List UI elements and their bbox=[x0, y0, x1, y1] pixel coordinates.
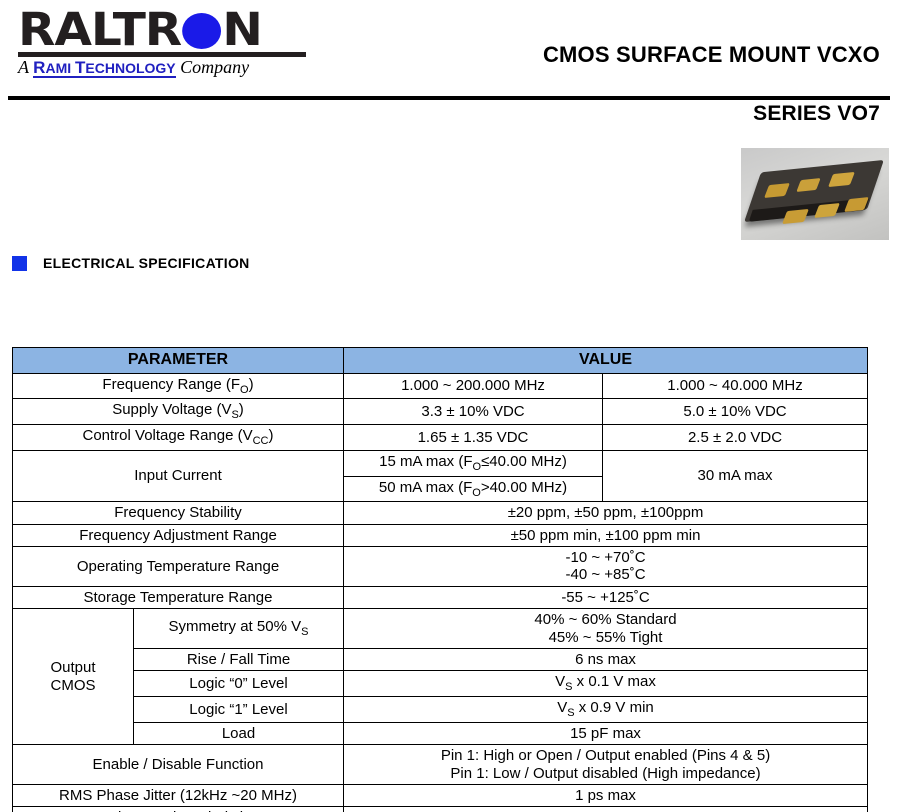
company-tagline: A RAMI TECHNOLOGY Company bbox=[18, 57, 249, 78]
solder-pad bbox=[844, 197, 869, 212]
table-row-rise-fall-time: Rise / Fall Time 6 ns max bbox=[13, 649, 868, 671]
cell-value: -55 ~ +125˚C bbox=[344, 586, 868, 608]
value-tail: ≤40.00 MHz) bbox=[481, 453, 567, 470]
logo-word-after: N bbox=[222, 3, 262, 56]
cell-parameter: Frequency Stability bbox=[13, 502, 344, 524]
value-tail: >40.00 MHz) bbox=[481, 479, 567, 496]
table-row-operating-temperature: Operating Temperature Range -10 ~ +70˚C … bbox=[13, 547, 868, 587]
cell-parameter: Enable / Disable Function bbox=[13, 745, 344, 785]
param-text: Control Voltage Range (V bbox=[83, 427, 253, 444]
param-tail: ) bbox=[269, 427, 274, 444]
cell-parameter: Operating Temperature Range bbox=[13, 547, 344, 587]
tagline-brand-echnology: ECHNOLOGY bbox=[85, 60, 175, 76]
cell-parameter: Load bbox=[134, 722, 344, 744]
param-subscript: CC bbox=[253, 435, 269, 447]
table-row-enable-disable: Enable / Disable Function Pin 1: High or… bbox=[13, 745, 868, 785]
tagline-prefix: A bbox=[18, 57, 33, 77]
cell-parameter: Control Voltage Range (VCC) bbox=[13, 425, 344, 451]
cell-value-right: 1.000 ~ 40.000 MHz bbox=[603, 373, 868, 399]
cell-parameter: RMS Phase Jitter (12kHz ~20 MHz) bbox=[13, 785, 344, 807]
cell-value-right: 5.0 ± 10% VDC bbox=[603, 399, 868, 425]
value-line-2: Pin 1: Low / Output disabled (High imped… bbox=[348, 765, 863, 782]
cell-value: ±20 ppm, ±50 ppm, ±100ppm bbox=[344, 502, 868, 524]
cell-value-left: 15 mA max (FO≤40.00 MHz) bbox=[344, 450, 603, 476]
logo-wordmark: RALTRN bbox=[18, 8, 308, 56]
cell-parameter: Frequency Range (FO) bbox=[13, 373, 344, 399]
tagline-brand: RAMI TECHNOLOGY bbox=[33, 60, 175, 78]
cell-parameter: Logic “1” Level bbox=[134, 697, 344, 723]
group-line-2: CMOS bbox=[17, 677, 129, 694]
cell-parameter: Rise / Fall Time bbox=[134, 649, 344, 671]
cell-value-right: 2.5 ± 2.0 VDC bbox=[603, 425, 868, 451]
tagline-suffix: Company bbox=[176, 57, 250, 77]
value-subscript: S bbox=[565, 681, 572, 693]
cell-parameter: Frequency Adjustment Range bbox=[13, 524, 344, 546]
table-row-input-current-a: Input Current 15 mA max (FO≤40.00 MHz) 3… bbox=[13, 450, 868, 476]
cell-value: 1 ps max bbox=[344, 785, 868, 807]
value-line-1: Pin 1: High or Open / Output enabled (Pi… bbox=[348, 747, 863, 764]
page-title: CMOS SURFACE MOUNT VCXO bbox=[543, 42, 880, 68]
param-tail: ) bbox=[249, 376, 254, 393]
blue-square-bullet-icon bbox=[12, 256, 27, 271]
cell-parameter: Supply Voltage (VS) bbox=[13, 399, 344, 425]
cell-value-left: 1.000 ~ 200.000 MHz bbox=[344, 373, 603, 399]
table-row: Frequency Stability ±20 ppm, ±50 ppm, ±1… bbox=[13, 502, 868, 524]
cell-parameter: Logic “0” Level bbox=[134, 671, 344, 697]
value-tail: x 0.9 V min bbox=[575, 699, 654, 716]
value-text: 15 mA max (F bbox=[379, 453, 472, 470]
tagline-brand-t: T bbox=[75, 58, 85, 77]
tagline-brand-r: R bbox=[33, 58, 45, 77]
column-header-parameter: PARAMETER bbox=[13, 348, 344, 374]
cell-group-output-cmos: Output CMOS bbox=[13, 609, 134, 745]
param-tail: ) bbox=[239, 401, 244, 418]
param-subscript: S bbox=[231, 409, 238, 421]
blue-circle-letter-o-icon bbox=[182, 13, 221, 49]
cell-value: -10 ~ +70˚C -40 ~ +85˚C bbox=[344, 547, 868, 587]
value-subscript: S bbox=[567, 707, 574, 719]
table-row: RMS Phase Jitter (12kHz ~20 MHz) 1 ps ma… bbox=[13, 785, 868, 807]
table-row: Peak to Peak Period Jitter 30 ps typ bbox=[13, 807, 868, 812]
table-row: Frequency Adjustment Range ±50 ppm min, … bbox=[13, 524, 868, 546]
value-text: 50 mA max (F bbox=[379, 479, 472, 496]
value-line-1: 40% ~ 60% Standard bbox=[348, 611, 863, 628]
cell-value-left: 50 mA max (FO>40.00 MHz) bbox=[344, 476, 603, 502]
param-text: Frequency Range (F bbox=[102, 376, 240, 393]
product-photo bbox=[741, 148, 889, 240]
value-text: V bbox=[557, 699, 567, 716]
series-title: SERIES VO7 bbox=[753, 102, 880, 126]
value-line-2: 45% ~ 55% Tight bbox=[348, 629, 863, 646]
table-row-logic-0-level: Logic “0” Level VS x 0.1 V max bbox=[13, 671, 868, 697]
cell-value: 40% ~ 60% Standard 45% ~ 55% Tight bbox=[344, 609, 868, 649]
logo-word-before: RALTR bbox=[18, 3, 181, 56]
cell-value-right: 30 mA max bbox=[603, 450, 868, 502]
table-row-storage-temperature: Storage Temperature Range -55 ~ +125˚C bbox=[13, 586, 868, 608]
value-text: V bbox=[555, 673, 565, 690]
param-subscript: O bbox=[240, 384, 249, 396]
cell-parameter: Input Current bbox=[13, 450, 344, 502]
datasheet-page: RALTRN A RAMI TECHNOLOGY Company CMOS SU… bbox=[0, 0, 898, 812]
company-logo: RALTRN bbox=[18, 8, 318, 56]
value-subscript: O bbox=[472, 487, 481, 499]
cell-parameter: Storage Temperature Range bbox=[13, 586, 344, 608]
param-text: Symmetry at 50% V bbox=[169, 618, 302, 635]
table-row-logic-1-level: Logic “1” Level VS x 0.9 V min bbox=[13, 697, 868, 723]
value-tail: x 0.1 V max bbox=[573, 673, 656, 690]
table-row-symmetry: Output CMOS Symmetry at 50% VS 40% ~ 60%… bbox=[13, 609, 868, 649]
cell-parameter: Peak to Peak Period Jitter bbox=[13, 807, 344, 812]
tagline-brand-ami: AMI bbox=[45, 60, 71, 76]
table-row: Frequency Range (FO) 1.000 ~ 200.000 MHz… bbox=[13, 373, 868, 399]
value-line-1: -10 ~ +70˚C bbox=[348, 549, 863, 566]
table-row-load: Load 15 pF max bbox=[13, 722, 868, 744]
cell-value: VS x 0.9 V min bbox=[344, 697, 868, 723]
table-row: Supply Voltage (VS) 3.3 ± 10% VDC 5.0 ± … bbox=[13, 399, 868, 425]
solder-pad bbox=[782, 209, 809, 224]
cell-value: 15 pF max bbox=[344, 722, 868, 744]
cell-value: 30 ps typ bbox=[344, 807, 868, 812]
section-heading-label: ELECTRICAL SPECIFICATION bbox=[43, 255, 250, 271]
column-header-value: VALUE bbox=[344, 348, 868, 374]
cell-value: VS x 0.1 V max bbox=[344, 671, 868, 697]
solder-pad bbox=[814, 203, 840, 218]
section-heading: ELECTRICAL SPECIFICATION bbox=[12, 255, 250, 271]
group-line-1: Output bbox=[17, 659, 129, 676]
table-row: Control Voltage Range (VCC) 1.65 ± 1.35 … bbox=[13, 425, 868, 451]
cell-value-left: 1.65 ± 1.35 VDC bbox=[344, 425, 603, 451]
param-subscript: S bbox=[301, 626, 308, 638]
cell-value: 6 ns max bbox=[344, 649, 868, 671]
cell-value: ±50 ppm min, ±100 ppm min bbox=[344, 524, 868, 546]
cell-value: Pin 1: High or Open / Output enabled (Pi… bbox=[344, 745, 868, 785]
table-header-row: PARAMETER VALUE bbox=[13, 348, 868, 374]
logo-word-text: RALTRN bbox=[18, 8, 331, 52]
value-subscript: O bbox=[473, 461, 482, 473]
electrical-specification-table: PARAMETER VALUE Frequency Range (FO) 1.0… bbox=[12, 347, 867, 812]
param-text: Supply Voltage (V bbox=[112, 401, 231, 418]
cell-value-left: 3.3 ± 10% VDC bbox=[344, 399, 603, 425]
value-line-2: -40 ~ +85˚C bbox=[348, 566, 863, 583]
header-divider bbox=[8, 96, 890, 100]
cell-parameter: Symmetry at 50% VS bbox=[134, 609, 344, 649]
